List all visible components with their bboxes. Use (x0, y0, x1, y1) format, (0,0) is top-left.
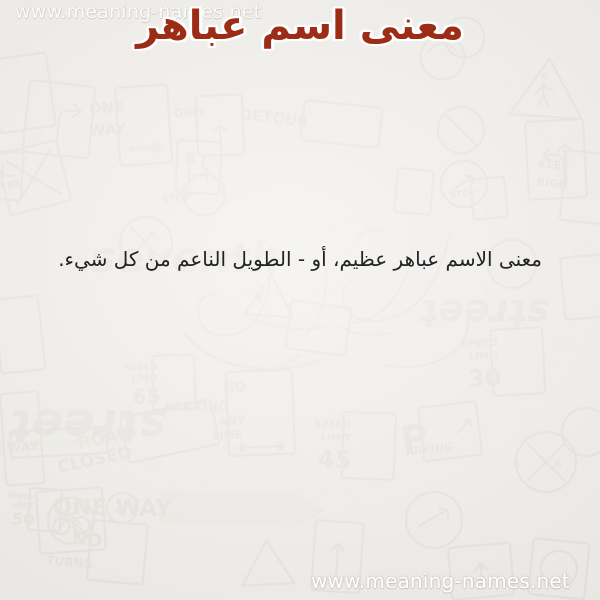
bg-right-arrow-circle-sign (441, 161, 487, 207)
svg-text:50: 50 (12, 509, 35, 529)
bg-keep-right-sign: KEEP RIGHT (0, 52, 56, 138)
svg-text:RIGHT: RIGHT (0, 88, 3, 108)
svg-text:ANY: ANY (219, 414, 246, 428)
svg-text:STOP: STOP (161, 192, 192, 206)
svg-text:R: R (554, 459, 562, 470)
bg-no-parking-sign: NO PARKING ANY TIME (163, 370, 295, 458)
bg-right-arrow-circle-2 (406, 492, 462, 548)
bg-speed-limit-65: SPEED LIMIT 65 (124, 355, 196, 411)
bg-only-lane-sign: ONLY (173, 94, 244, 156)
bottom-watermark: www.meaning-names.net (311, 569, 570, 593)
bg-road-closed-sign: ROAD CLOSED (50, 399, 219, 478)
svg-text:Y: Y (253, 292, 265, 308)
bg-stop-sign: STOP (159, 173, 226, 219)
svg-text:TIME: TIME (212, 428, 242, 442)
svg-text:NO: NO (223, 379, 247, 396)
svg-text:ARKING: ARKING (405, 440, 454, 459)
svg-text:65: 65 (132, 384, 161, 409)
svg-text:TURNS: TURNS (46, 553, 93, 571)
svg-text:CLOSED: CLOSED (56, 443, 134, 478)
bg-railroad-crossing-circle: R R (512, 432, 576, 492)
svg-text:DETOUR: DETOUR (239, 105, 310, 130)
bg-railroad-crossing-sign: RR (0, 140, 71, 215)
bg-detour-sign: DETOUR (238, 93, 383, 148)
bg-one-way-horizontal-1: ONE WAY (0, 427, 107, 460)
svg-text:ROAD: ROAD (76, 423, 133, 454)
svg-text:R: R (512, 459, 520, 470)
svg-text:ONLY: ONLY (174, 106, 207, 120)
page-root: .sg { fill: none; stroke: #e0ddd7; strok… (0, 0, 600, 600)
bg-speed-limit-45: SPEED LIMIT 45 (312, 411, 396, 480)
svg-text:street: street (8, 399, 166, 453)
bg-one-way-horizontal-2: ONE WAY (52, 488, 326, 527)
bg-no-bicycle-sign (36, 487, 106, 553)
svg-text:30: 30 (467, 363, 502, 393)
svg-text:PARKING: PARKING (164, 399, 229, 416)
svg-text:WAY: WAY (88, 119, 127, 140)
svg-text:ONE WAY: ONE WAY (0, 439, 40, 458)
bg-turn-arrow-sign (22, 80, 95, 159)
background-vignette (0, 0, 600, 600)
svg-text:45: 45 (317, 445, 351, 474)
svg-text:P: P (399, 417, 430, 461)
svg-text:STOP: STOP (449, 188, 477, 201)
svg-text:LIMIT: LIMIT (131, 374, 160, 385)
svg-text:SPEED: SPEED (124, 363, 157, 374)
svg-text:LIMIT: LIMIT (12, 501, 34, 510)
bg-one-way-sign: ONE WAY (86, 84, 172, 167)
bg-workers-ahead-sign (510, 56, 586, 119)
bg-straight-or-left-arrow-sign (525, 119, 587, 200)
svg-text:SPEED: SPEED (8, 492, 34, 501)
svg-text:RR: RR (7, 179, 23, 192)
svg-text:street: street (418, 291, 549, 335)
svg-text:RIGH: RIGH (536, 175, 568, 191)
bg-speed-limit-30: SPEED LIMIT 30 (461, 327, 546, 397)
bg-parking-sign: P ARKING (398, 401, 482, 464)
page-title: معنى اسم عباهر (0, 2, 600, 50)
bg-food-services-sign (175, 140, 222, 194)
svg-text:ONE: ONE (88, 97, 125, 117)
bg-no-entry-sign-2 (438, 107, 484, 153)
svg-text:SPEED: SPEED (314, 419, 351, 431)
svg-text:KEEP: KEEP (537, 157, 570, 173)
name-meaning-text: معنى الاسم عباهر عظيم، أو - الطويل الناع… (38, 228, 542, 290)
svg-text:LIMIT: LIMIT (320, 432, 351, 444)
svg-text:NO: NO (71, 528, 103, 552)
bg-speed-limit-50: SPEED LIMIT 50 (6, 487, 62, 532)
background-road-sign-collage: .sg { fill: none; stroke: #e0ddd7; strok… (0, 0, 600, 600)
svg-text:LIMIT: LIMIT (469, 351, 500, 364)
svg-text:ONE WAY: ONE WAY (52, 494, 172, 522)
svg-text:SPEED: SPEED (461, 338, 498, 351)
